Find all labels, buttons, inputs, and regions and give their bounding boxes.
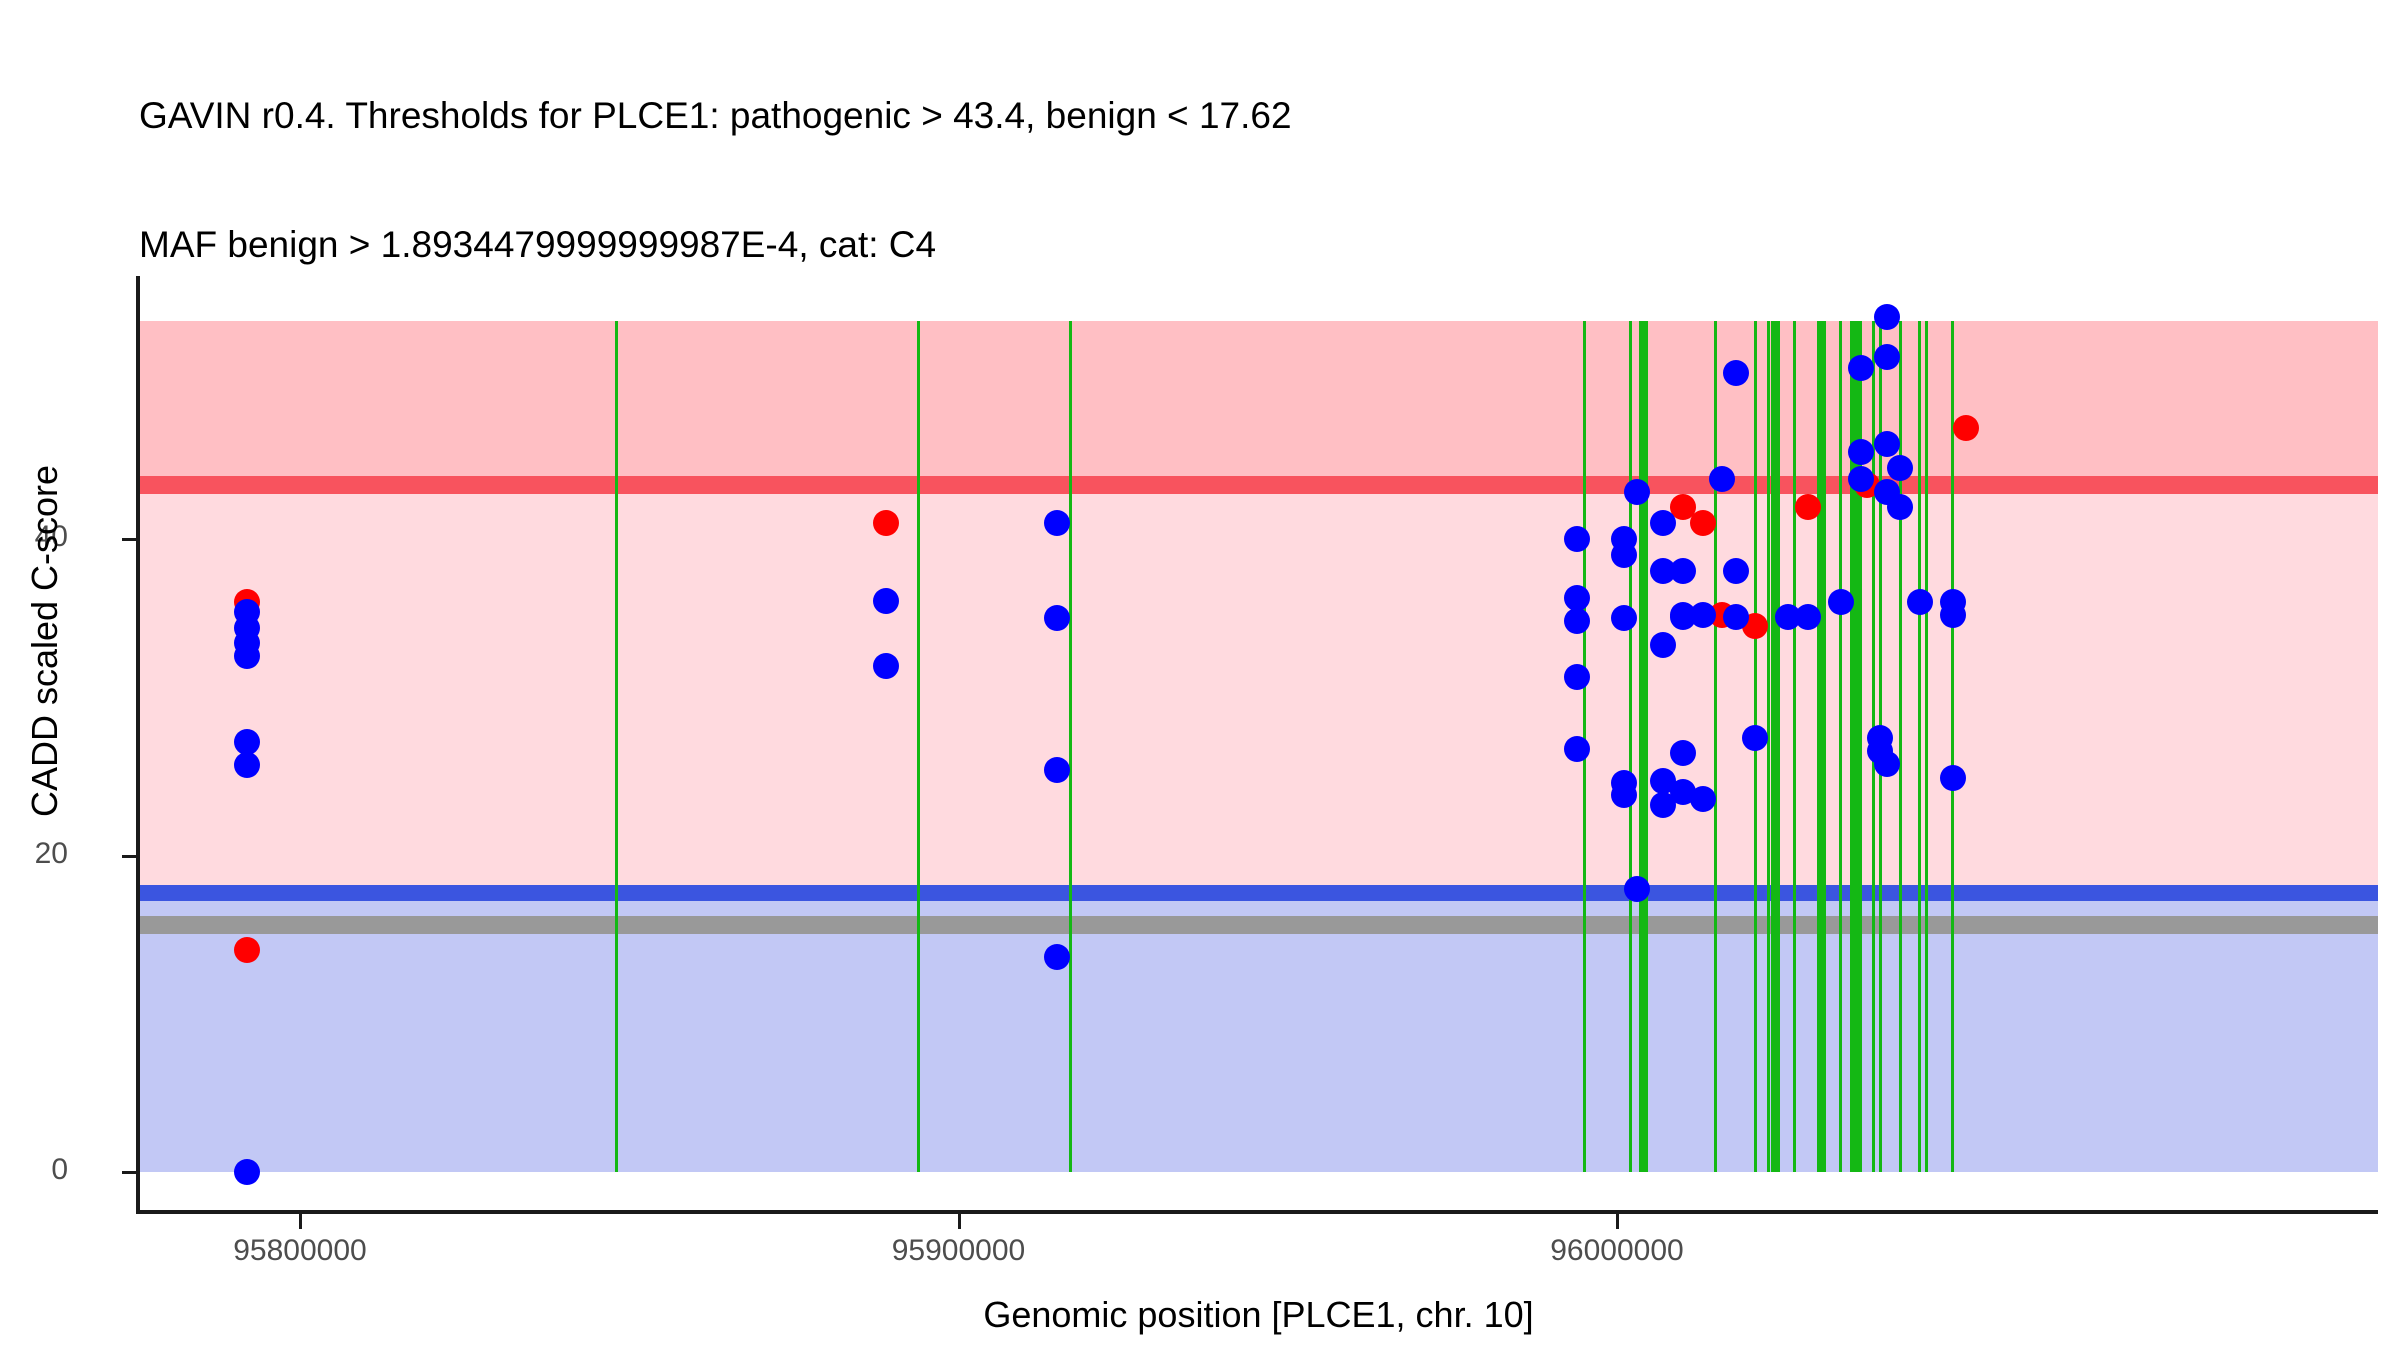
gnomad-point[interactable] <box>1690 786 1716 812</box>
zone-benign <box>139 901 2378 1172</box>
y-tick <box>122 1171 136 1174</box>
gnomad-point[interactable] <box>1624 479 1650 505</box>
x-tick <box>1616 1214 1619 1229</box>
y-tick <box>122 538 136 541</box>
y-axis-line <box>136 276 140 1212</box>
gnomad-point[interactable] <box>1848 439 1874 465</box>
gnomad-point[interactable] <box>1564 664 1590 690</box>
gnomad-point[interactable] <box>1690 602 1716 628</box>
gnomad-point[interactable] <box>1650 632 1676 658</box>
gnomad-point[interactable] <box>1611 605 1637 631</box>
chart-root: GAVIN r0.4. Thresholds for PLCE1: pathog… <box>0 0 2400 1350</box>
gnomad-point[interactable] <box>1670 558 1696 584</box>
zone-pathogenic <box>139 321 2378 485</box>
gnomad-point[interactable] <box>1940 602 1966 628</box>
gnomad-point[interactable] <box>1723 558 1749 584</box>
zone-uncertain <box>139 494 2378 885</box>
x-axis-label: Genomic position [PLCE1, chr. 10] <box>139 1294 2378 1336</box>
y-axis-label: CADD scaled C-score <box>24 241 66 1041</box>
gnomad-point[interactable] <box>1940 765 1966 791</box>
gnomad-point[interactable] <box>1670 740 1696 766</box>
gnomad-point[interactable] <box>1611 782 1637 808</box>
exon-line <box>917 321 920 1172</box>
gnomad-point[interactable] <box>1044 944 1070 970</box>
x-tick <box>958 1214 961 1229</box>
exon-line <box>1767 321 1770 1172</box>
gnomad-point[interactable] <box>1874 344 1900 370</box>
threshold-pathogenic <box>139 476 2378 494</box>
pathogenic-point[interactable] <box>1690 510 1716 536</box>
exon-line <box>1817 321 1826 1172</box>
x-tick-label: 95900000 <box>809 1234 1109 1268</box>
threshold-fallback <box>139 916 2378 934</box>
exon-line <box>1793 321 1796 1172</box>
gnomad-point[interactable] <box>1723 604 1749 630</box>
y-tick-label: 0 <box>0 1153 68 1187</box>
exon-line <box>1629 321 1632 1172</box>
gnomad-point[interactable] <box>1874 751 1900 777</box>
exon-line <box>1714 321 1717 1172</box>
title-line-2: MAF benign > 1.8934479999999987E-4, cat:… <box>139 223 2339 266</box>
gnomad-point[interactable] <box>873 588 899 614</box>
x-tick <box>299 1214 302 1229</box>
exon-line <box>1951 321 1954 1172</box>
gnomad-point[interactable] <box>1611 542 1637 568</box>
x-tick-label: 95800000 <box>150 1234 450 1268</box>
exon-line <box>615 321 618 1172</box>
plot-panel <box>139 276 2378 1212</box>
y-tick <box>122 855 136 858</box>
exon-line <box>1839 321 1842 1172</box>
gnomad-point[interactable] <box>1723 360 1749 386</box>
exon-line <box>1639 321 1648 1172</box>
gnomad-point[interactable] <box>1624 876 1650 902</box>
gnomad-point[interactable] <box>1828 589 1854 615</box>
exon-line <box>1925 321 1928 1172</box>
gnomad-point[interactable] <box>1795 604 1821 630</box>
threshold-benign <box>139 885 2378 901</box>
gnomad-point[interactable] <box>1874 431 1900 457</box>
x-tick-label: 96000000 <box>1467 1234 1767 1268</box>
title-line-1: GAVIN r0.4. Thresholds for PLCE1: pathog… <box>139 94 2339 137</box>
x-axis-line <box>136 1210 2378 1214</box>
gnomad-point[interactable] <box>234 729 260 755</box>
gnomad-point[interactable] <box>1848 466 1874 492</box>
gnomad-point[interactable] <box>1887 455 1913 481</box>
exon-line <box>1918 321 1921 1172</box>
gnomad-point[interactable] <box>1564 585 1590 611</box>
gnomad-point[interactable] <box>1848 355 1874 381</box>
gnomad-point[interactable] <box>873 653 899 679</box>
gnomad-point[interactable] <box>234 1159 260 1185</box>
exon-line <box>1771 321 1780 1172</box>
exon-line <box>1069 321 1072 1172</box>
